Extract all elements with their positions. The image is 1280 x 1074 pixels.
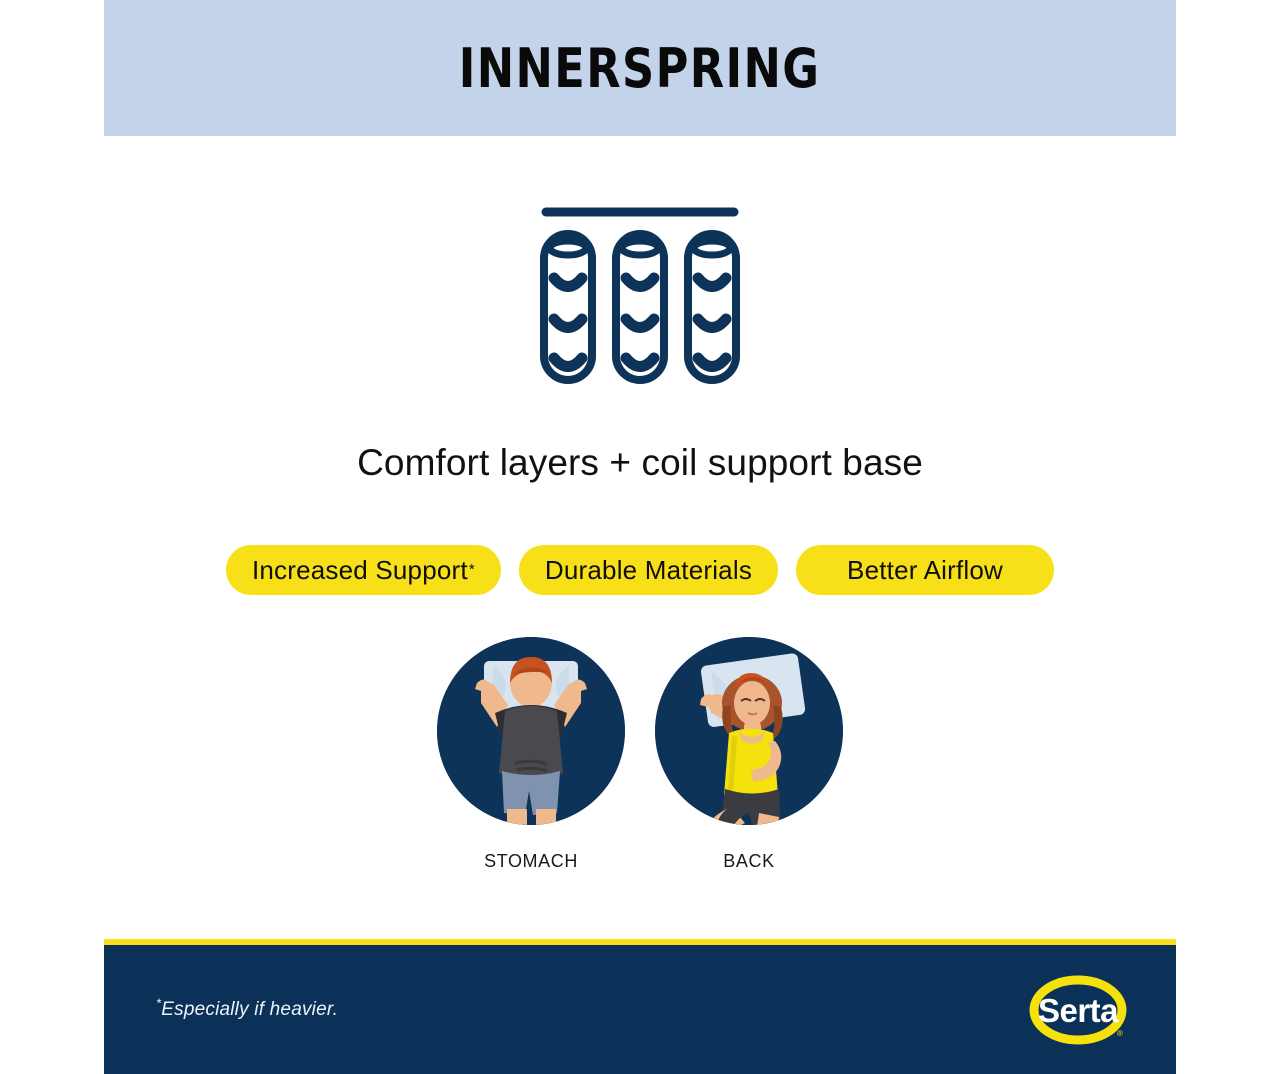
sleep-position-list: STOMACH xyxy=(104,637,1176,872)
benefit-pill-label: Increased Support xyxy=(252,555,468,586)
sleep-position-label: BACK xyxy=(723,851,774,872)
card-footer: *Especially if heavier. Serta ® xyxy=(104,939,1176,1074)
sleep-position-stomach[interactable]: STOMACH xyxy=(437,637,625,872)
coil-icon-wrapper xyxy=(104,206,1176,396)
page-title: INNERSPRING xyxy=(459,37,821,100)
footnote: *Especially if heavier. xyxy=(156,999,338,1021)
infographic-page: INNERSPRING xyxy=(0,0,1280,1074)
benefit-pill-list: Increased Support* Durable Materials Bet… xyxy=(104,545,1176,595)
back-sleeper-icon xyxy=(655,637,843,825)
stomach-sleeper-icon xyxy=(437,637,625,825)
headline: Comfort layers + coil support base xyxy=(104,442,1176,484)
back-sleeper-avatar xyxy=(655,637,843,825)
svg-text:®: ® xyxy=(1117,1029,1123,1038)
benefit-pill-durable-materials[interactable]: Durable Materials xyxy=(519,545,778,595)
stomach-sleeper-avatar xyxy=(437,637,625,825)
card-body: Comfort layers + coil support base Incre… xyxy=(104,136,1176,939)
svg-text:Serta: Serta xyxy=(1038,992,1119,1029)
benefit-pill-increased-support[interactable]: Increased Support* xyxy=(226,545,501,595)
sleep-position-back[interactable]: BACK xyxy=(655,637,843,872)
serta-logo[interactable]: Serta ® xyxy=(1028,968,1132,1052)
footnote-text: Especially if heavier. xyxy=(161,999,338,1020)
innerspring-card: INNERSPRING xyxy=(104,0,1176,1074)
benefit-pill-label: Better Airflow xyxy=(847,555,1003,586)
card-header: INNERSPRING xyxy=(104,0,1176,136)
benefit-pill-label: Durable Materials xyxy=(545,555,752,586)
serta-logo-icon: Serta ® xyxy=(1028,968,1132,1052)
benefit-pill-better-airflow[interactable]: Better Airflow xyxy=(796,545,1054,595)
innerspring-coils-icon xyxy=(540,206,740,396)
sleep-position-label: STOMACH xyxy=(484,851,578,872)
